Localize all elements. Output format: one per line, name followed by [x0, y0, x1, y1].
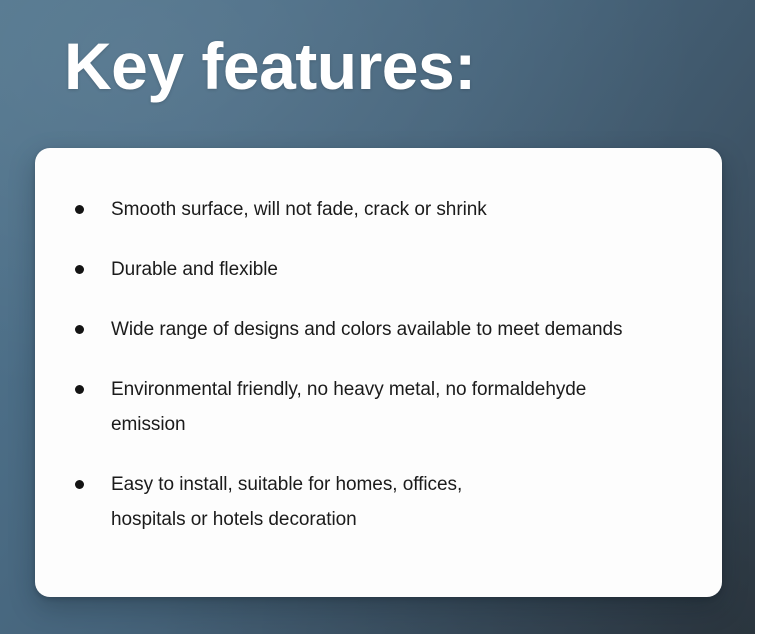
- list-item: Smooth surface, will not fade, crack or …: [75, 192, 696, 227]
- disc-bullet-icon: [75, 385, 84, 394]
- list-item-line: hospitals or hotels decoration: [111, 502, 696, 537]
- features-card: Smooth surface, will not fade, crack or …: [35, 148, 722, 597]
- slide-canvas: Key features: Smooth surface, will not f…: [0, 0, 772, 634]
- features-list: Smooth surface, will not fade, crack or …: [75, 192, 696, 537]
- disc-bullet-icon: [75, 205, 84, 214]
- list-item: Easy to install, suitable for homes, off…: [75, 467, 696, 537]
- list-item: Durable and flexible: [75, 252, 696, 287]
- disc-bullet-icon: [75, 325, 84, 334]
- list-item-line: Easy to install, suitable for homes, off…: [111, 467, 696, 502]
- list-item-text: Easy to install, suitable for homes, off…: [111, 467, 696, 537]
- list-item-text: Smooth surface, will not fade, crack or …: [111, 192, 696, 227]
- page-title: Key features:: [64, 28, 476, 106]
- disc-bullet-icon: [75, 265, 84, 274]
- list-item: Environmental friendly, no heavy metal, …: [75, 372, 696, 442]
- list-item: Wide range of designs and colors availab…: [75, 312, 696, 347]
- list-item-line: Durable and flexible: [111, 252, 696, 287]
- list-item-text: Environmental friendly, no heavy metal, …: [111, 372, 696, 442]
- list-item-text: Wide range of designs and colors availab…: [111, 312, 696, 347]
- list-item-text: Durable and flexible: [111, 252, 696, 287]
- list-item-line: Environmental friendly, no heavy metal, …: [111, 372, 696, 407]
- list-item-line: Wide range of designs and colors availab…: [111, 312, 696, 347]
- list-item-line: Smooth surface, will not fade, crack or …: [111, 192, 696, 227]
- disc-bullet-icon: [75, 480, 84, 489]
- list-item-line: emission: [111, 407, 696, 442]
